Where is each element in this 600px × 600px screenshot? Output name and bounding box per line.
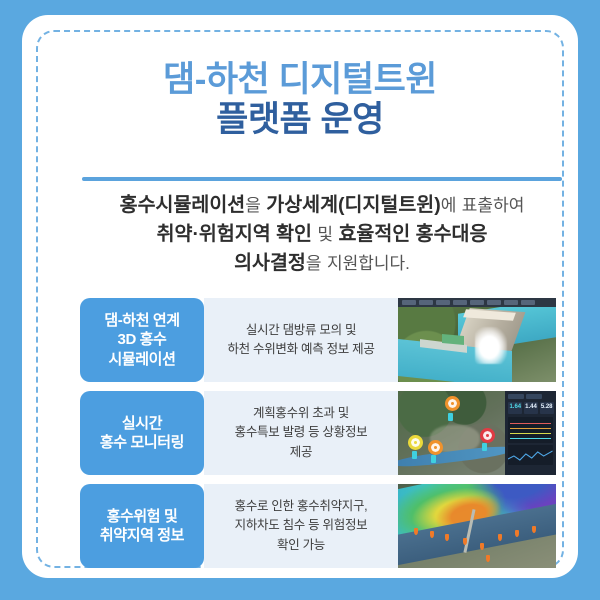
feature-description: 계획홍수위 초과 및 홍수특보 발령 등 상황정보 제공 <box>204 391 398 475</box>
description-line: 제공 <box>290 443 312 462</box>
tab-icon[interactable] <box>526 394 542 399</box>
description-line: 확인 가능 <box>277 536 325 555</box>
toolbar-button-icon <box>470 300 484 305</box>
readout-number: 5.28 <box>541 404 553 412</box>
feature-label-realtime-flood-monitoring[interactable]: 실시간 홍수 모니터링 <box>80 391 204 475</box>
flood-risk-heatmap-thumbnail[interactable] <box>398 484 556 568</box>
feature-description: 홍수로 인한 홍수취약지구, 지하차도 침수 등 위험정보 확인 가능 <box>204 484 398 568</box>
label-line: 3D 홍수 <box>118 330 167 349</box>
label-line: 취약지역 정보 <box>100 526 184 545</box>
subtitle-emphasis: 의사결정 <box>234 252 306 274</box>
toolbar-button-icon <box>487 300 501 305</box>
dashboard-readouts: 1.64 1.44 5.28 <box>508 402 553 414</box>
subtitle-particle: 표출하여 <box>462 196 525 215</box>
waveform-svg <box>508 445 553 465</box>
feature-row-list: 댐-하천 연계 3D 홍수 시뮬레이션 실시간 댐방류 모의 및 하천 수위변화… <box>80 298 556 568</box>
viewer-toolbar <box>398 298 556 307</box>
label-line: 실시간 <box>122 414 162 433</box>
subtitle-line-3: 의사결정을 지원합니다. <box>62 249 582 278</box>
chart-series-line <box>510 438 551 439</box>
risk-pin-icon <box>414 528 418 535</box>
subtitle-line-1: 홍수시뮬레이션을 가상세계(디지털트윈)에 표출하여 <box>62 191 582 220</box>
satellite-map <box>398 391 505 475</box>
page-title: 댐-하천 디지털트윈 플랫폼 운영 <box>22 60 578 140</box>
alert-marker-orange-icon[interactable] <box>445 396 460 411</box>
alert-marker-yellow-icon[interactable] <box>408 435 423 450</box>
alert-marker-orange-icon[interactable] <box>428 440 443 455</box>
feature-row[interactable]: 댐-하천 연계 3D 홍수 시뮬레이션 실시간 댐방류 모의 및 하천 수위변화… <box>80 298 556 382</box>
description-line: 지하차도 침수 등 위험정보 <box>235 516 368 535</box>
info-card: 댐-하천 디지털트윈 플랫폼 운영 홍수시뮬레이션을 가상세계(디지털트윈)에 … <box>22 15 578 578</box>
description-line: 홍수특보 발령 등 상황정보 <box>235 423 368 442</box>
subtitle-particle: 을 <box>306 254 322 273</box>
readout-value: 1.44 <box>524 402 538 414</box>
gauge-station-icon <box>448 413 453 421</box>
label-line: 시뮬레이션 <box>108 350 175 369</box>
label-line: 홍수위험 및 <box>107 507 178 526</box>
subtitle-emphasis: 효율적인 홍수대응 <box>338 223 487 245</box>
dam-3d-simulation-thumbnail[interactable] <box>398 298 556 382</box>
waveform-chart <box>508 445 553 465</box>
toolbar-button-icon <box>453 300 467 305</box>
readout-value: 1.64 <box>508 402 522 414</box>
feature-row[interactable]: 실시간 홍수 모니터링 계획홍수위 초과 및 홍수특보 발령 등 상황정보 제공 <box>80 391 556 475</box>
chart-series-line <box>510 423 551 424</box>
title-divider <box>82 177 562 181</box>
feature-row[interactable]: 홍수위험 및 취약지역 정보 홍수로 인한 홍수취약지구, 지하차도 침수 등 … <box>80 484 556 568</box>
description-line: 홍수로 인한 홍수취약지구, <box>235 497 368 516</box>
feature-label-dam-3d-simulation[interactable]: 댐-하천 연계 3D 홍수 시뮬레이션 <box>80 298 204 382</box>
subtitle-particle: 을 <box>245 196 261 215</box>
alert-marker-red-icon[interactable] <box>480 428 495 443</box>
risk-pin-icon <box>463 538 467 545</box>
multi-line-chart <box>508 417 553 443</box>
readout-number: 1.44 <box>525 404 537 412</box>
label-line: 홍수 모니터링 <box>100 433 184 452</box>
readout-value: 5.28 <box>540 402 554 414</box>
subtitle-line-2: 취약·위험지역 확인 및 효율적인 홍수대응 <box>62 220 582 249</box>
spillway-discharge <box>475 327 507 364</box>
feature-description: 실시간 댐방류 모의 및 하천 수위변화 예측 정보 제공 <box>204 298 398 382</box>
gauge-station-icon <box>412 451 417 459</box>
toolbar-button-icon <box>521 300 535 305</box>
chart-series-line <box>510 433 551 434</box>
risk-pin-icon <box>498 534 502 541</box>
toolbar-button-icon <box>419 300 433 305</box>
description-line: 하천 수위변화 예측 정보 제공 <box>227 340 374 359</box>
risk-pin-icon <box>515 530 519 537</box>
toolbar-button-icon <box>402 300 416 305</box>
readout-number: 1.64 <box>509 404 521 412</box>
feature-label-flood-risk-vulnerable-areas[interactable]: 홍수위험 및 취약지역 정보 <box>80 484 204 568</box>
title-line-primary: 댐-하천 디지털트윈 <box>22 60 578 100</box>
chart-series-line <box>510 428 551 429</box>
description-line: 실시간 댐방류 모의 및 <box>246 321 356 340</box>
subtitle-particle: 에 <box>441 196 457 215</box>
monitoring-dashboard-panel: 1.64 1.44 5.28 <box>505 391 556 475</box>
subtitle-emphasis: 홍수시뮬레이션 <box>120 194 246 216</box>
toolbar-button-icon <box>436 300 450 305</box>
subtitle-emphasis: 가상세계(디지털트윈) <box>266 194 440 216</box>
title-line-secondary: 플랫폼 운영 <box>22 100 578 140</box>
subtitle-particle: 및 <box>317 225 333 244</box>
gauge-station-icon <box>482 443 487 451</box>
gauge-station-icon <box>431 455 436 463</box>
label-line: 댐-하천 연계 <box>104 311 179 330</box>
flood-monitoring-map-dashboard-thumbnail[interactable]: 1.64 1.44 5.28 <box>398 391 556 475</box>
subtitle-paragraph: 홍수시뮬레이션을 가상세계(디지털트윈)에 표출하여 취약·위험지역 확인 및 … <box>62 191 582 278</box>
risk-pin-icon <box>430 531 434 538</box>
subtitle-particle: 지원합니다. <box>327 254 410 273</box>
description-line: 계획홍수위 초과 및 <box>253 404 349 423</box>
tab-icon[interactable] <box>508 394 524 399</box>
subtitle-emphasis: 취약·위험지역 확인 <box>157 223 312 245</box>
toolbar-button-icon <box>504 300 518 305</box>
powerhouse-roof <box>442 334 464 345</box>
dashboard-tabs[interactable] <box>508 394 553 399</box>
